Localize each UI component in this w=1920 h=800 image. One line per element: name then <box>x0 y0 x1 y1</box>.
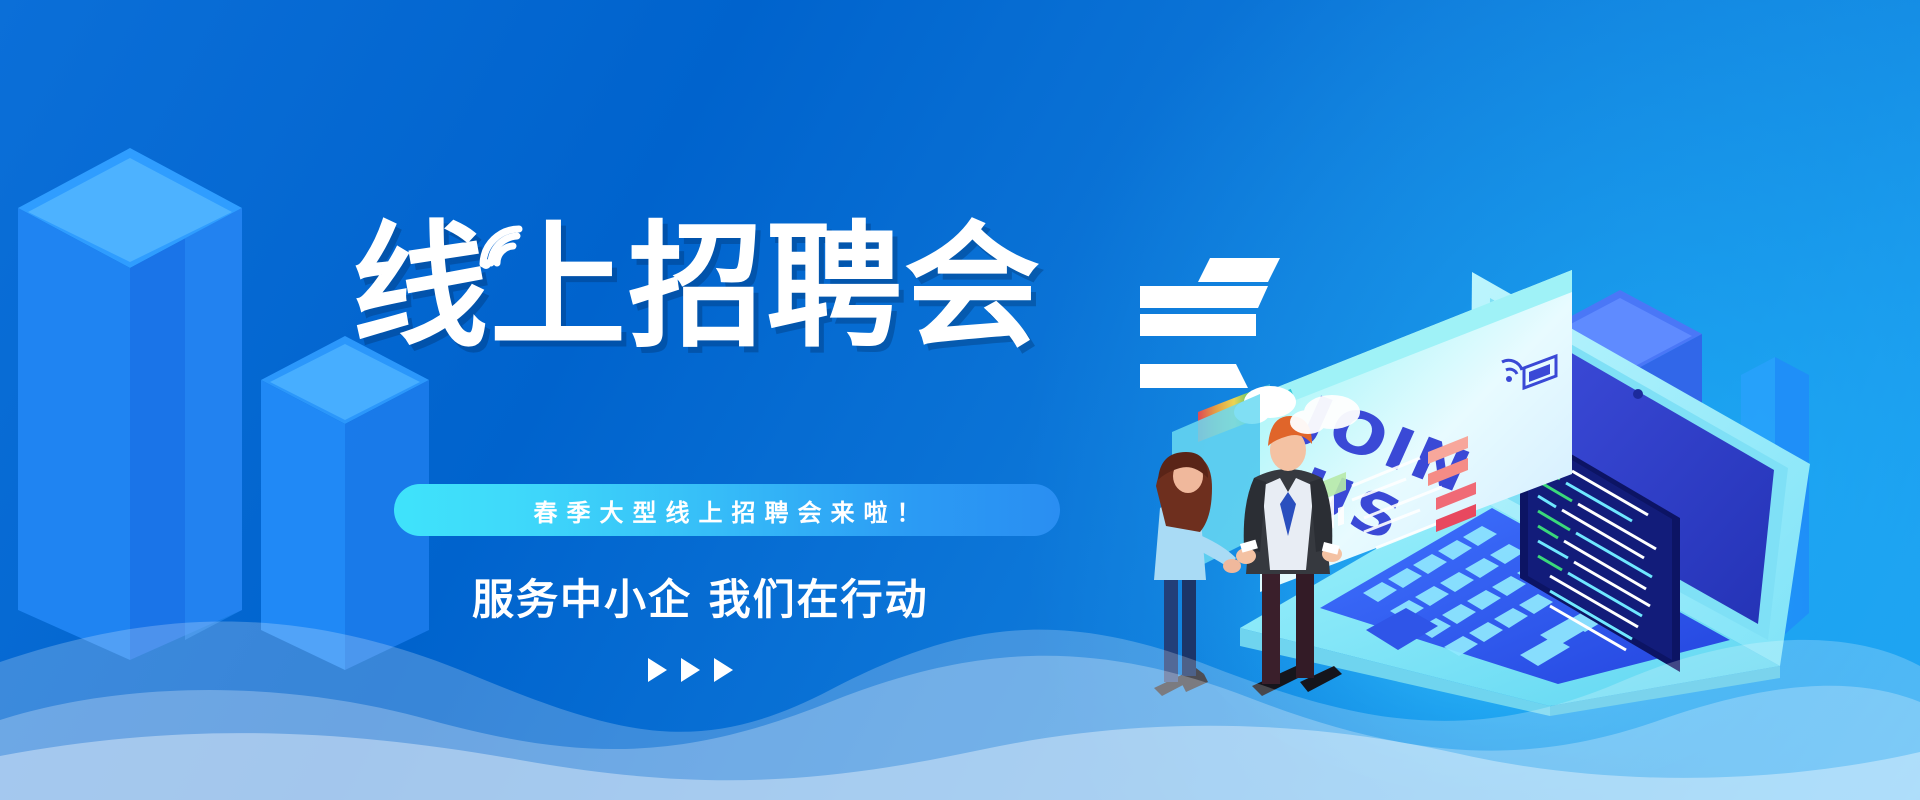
ribbon-shapes <box>1140 256 1280 406</box>
title-block: 线上招聘会 <box>352 218 952 368</box>
recruitment-banner: JOIN US <box>0 0 1920 800</box>
subtitle-pill-label: 春季大型线上招聘会来啦！ <box>525 493 930 528</box>
wave-decoration <box>0 570 1920 800</box>
subtitle-pill: 春季大型线上招聘会来啦！ <box>394 484 1060 536</box>
page-title: 线上招聘会 <box>352 218 952 358</box>
wifi-icon <box>474 220 530 272</box>
